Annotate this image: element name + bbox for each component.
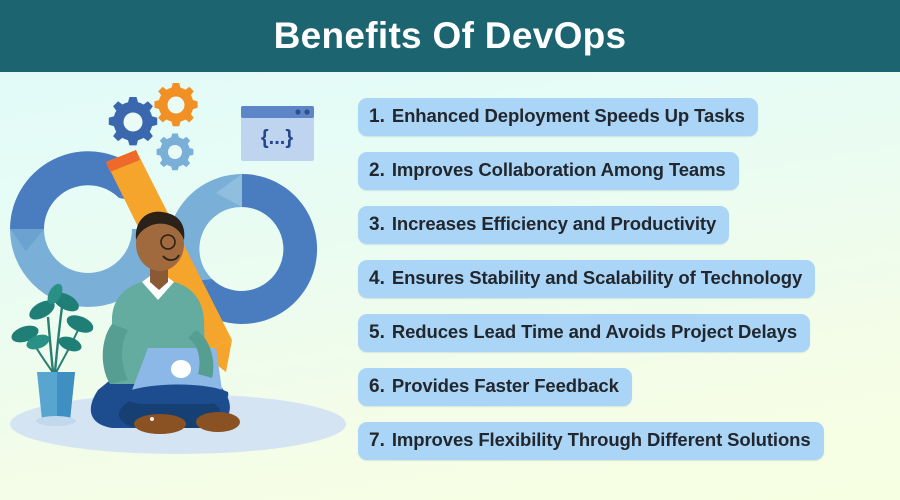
benefit-item-1[interactable]: 1. Enhanced Deployment Speeds Up Tasks [358,98,758,136]
benefit-label: Improves Collaboration Among Teams [392,159,726,181]
benefit-number: 6. [369,376,385,398]
gear-light-blue [157,134,194,171]
shoe-left [134,414,186,434]
gear-dark-blue [109,97,157,145]
benefit-number: 2. [369,160,385,182]
laptop-logo [171,360,191,378]
benefit-item-6[interactable]: 6. Provides Faster Feedback [358,368,632,406]
benefit-label: Reduces Lead Time and Avoids Project Del… [392,321,797,343]
benefit-item-7[interactable]: 7. Improves Flexibility Through Differen… [358,422,824,460]
window-dot-1 [295,109,300,114]
benefit-item-2[interactable]: 2. Improves Collaboration Among Teams [358,152,739,190]
benefits-list: 1. Enhanced Deployment Speeds Up Tasks 2… [358,98,898,460]
benefit-item-3[interactable]: 3. Increases Efficiency and Productivity [358,206,729,244]
benefit-label: Increases Efficiency and Productivity [392,213,716,235]
header-banner: Benefits Of DevOps [0,0,900,72]
benefit-label: Enhanced Deployment Speeds Up Tasks [392,105,745,127]
benefit-number: 5. [369,322,385,344]
benefit-label: Ensures Stability and Scalability of Tec… [392,267,802,289]
benefit-number: 1. [369,106,385,128]
benefit-number: 4. [369,268,385,290]
gear-orange [154,83,197,126]
shoe-right [196,412,240,432]
benefit-label: Improves Flexibility Through Different S… [392,429,811,451]
page-title: Benefits Of DevOps [274,15,627,57]
infographic-poster: Benefits Of DevOps [0,0,900,500]
window-dot-2 [304,109,309,114]
code-window: {...} [241,106,314,161]
benefit-item-5[interactable]: 5. Reduces Lead Time and Avoids Project … [358,314,810,352]
benefit-number: 3. [369,214,385,236]
code-window-text: {...} [261,127,293,149]
devops-illustration: {...} [0,72,350,500]
benefit-label: Provides Faster Feedback [392,375,619,397]
benefit-number: 7. [369,430,385,452]
benefit-item-4[interactable]: 4. Ensures Stability and Scalability of … [358,260,815,298]
